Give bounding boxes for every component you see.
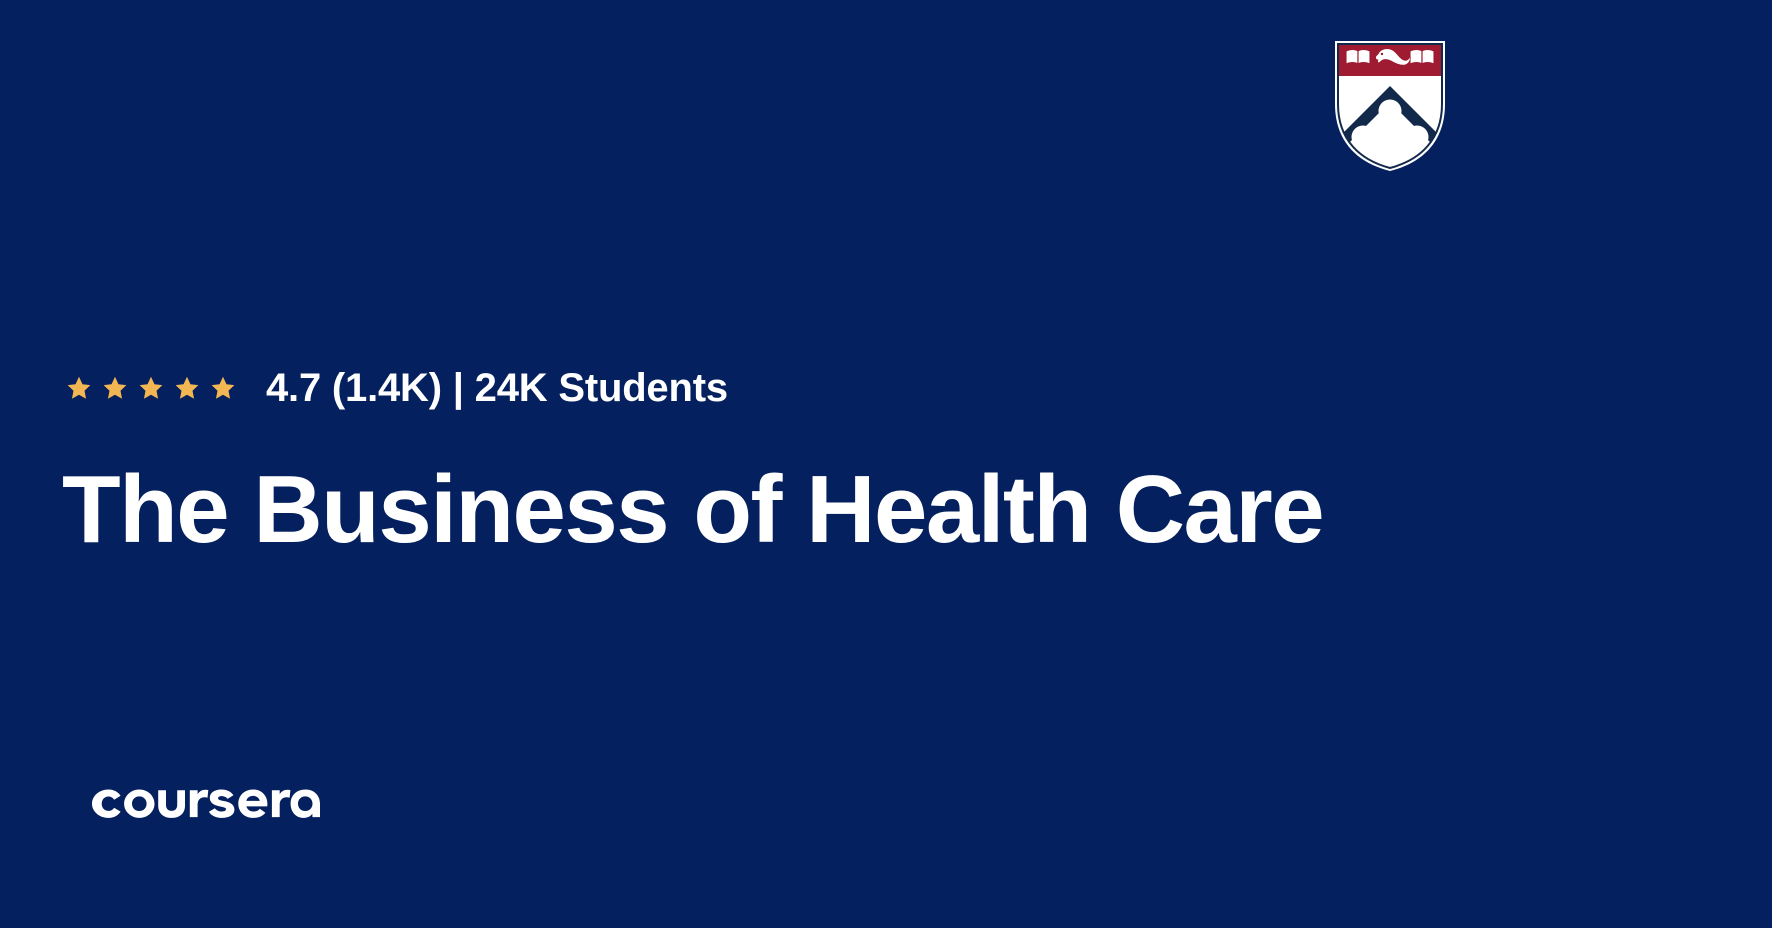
star-filled-icon <box>138 375 164 401</box>
coursera-brand-name: coursera <box>88 828 89 829</box>
rating-row: 4.7 (1.4K) | 24K Students <box>66 366 728 410</box>
coursera-wordmark: coursera <box>88 778 320 828</box>
rating-summary-text: 4.7 (1.4K) | 24K Students <box>266 366 728 411</box>
course-banner: 4.7 (1.4K) | 24K Students The Business o… <box>0 0 1772 928</box>
star-filled-icon <box>102 375 128 401</box>
star-filled-icon <box>174 375 200 401</box>
star-rating <box>66 375 236 401</box>
course-title: The Business of Health Care <box>62 462 1662 558</box>
star-filled-icon <box>210 375 236 401</box>
university-shield-logo <box>1334 40 1446 172</box>
star-filled-icon <box>66 375 92 401</box>
